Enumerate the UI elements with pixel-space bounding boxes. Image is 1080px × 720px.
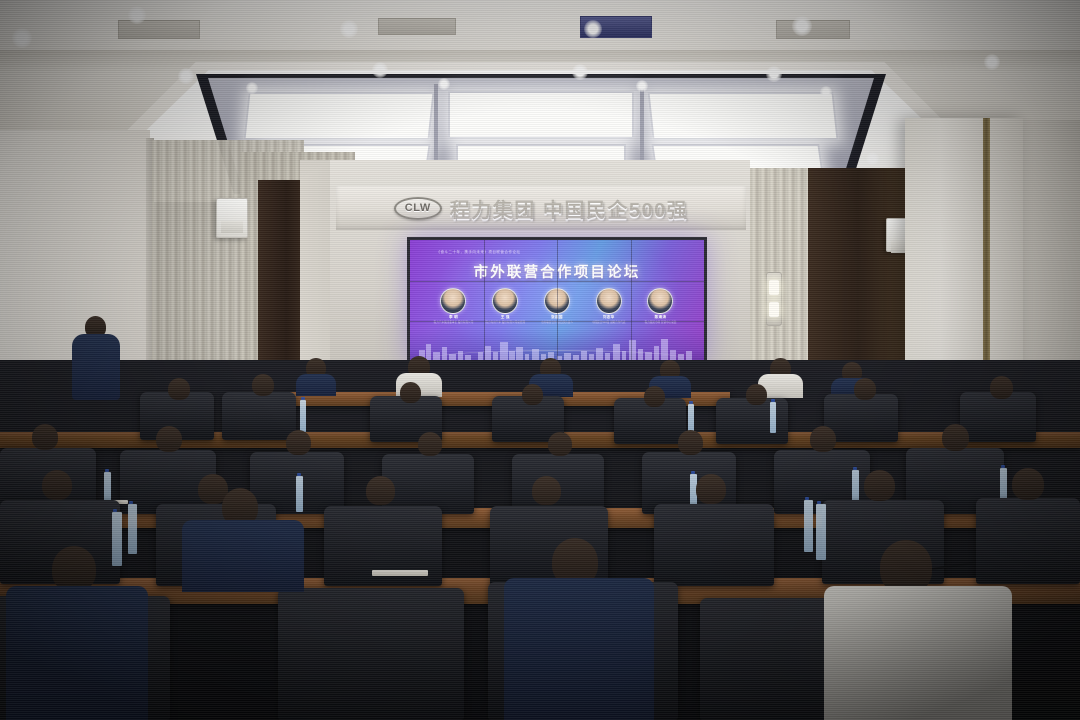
foreground-chair[interactable] [278,588,464,720]
water-bottle[interactable] [804,500,813,552]
led-panel-bezel [410,281,704,282]
speaker-name: 陈海涛 [655,315,667,320]
person-head [1012,468,1044,500]
ceiling-light-panel [243,92,434,140]
led-video-wall[interactable]: 《奋斗二十年，携手向未来》项目联营合作论坛 市外联营合作项目论坛 李 明 程力汽… [407,237,707,365]
person-head [286,430,311,455]
water-bottle[interactable] [770,402,776,433]
audience-chair[interactable] [222,392,296,440]
led-speaker-card: 李 明 程力汽车集团董事长 股份有限公司 [432,288,476,325]
person-head [854,378,876,400]
ceiling-downlight [438,78,450,90]
person-head [696,474,726,504]
led-panel-bezel [631,240,632,362]
led-subtitle: 《奋斗二十年，携手向未来》项目联营合作论坛 [436,250,520,255]
water-bottle[interactable] [128,504,137,554]
speaker-name: 王 强 [501,315,510,320]
speaker-portrait-avatar [647,288,673,314]
wall-sconce-icon [766,272,782,326]
ceiling-downlight [584,20,602,38]
notebook[interactable] [372,570,428,576]
person-head [252,374,274,396]
company-sign-text: 程力集团 中国民企500强 [450,194,688,223]
speaker-portrait-avatar [492,288,518,314]
ceiling-downlight [792,16,812,36]
led-panel-bezel [484,240,485,362]
audience-chair[interactable] [716,398,788,444]
person-head [156,426,182,452]
speaker-name: 李 明 [449,315,458,320]
person-head [532,476,561,505]
clw-logo-icon: CLW [394,197,442,220]
conference-hall-scene: CLW 程力集团 中国民企500强 《奋斗二十年，携手向未来》项目联营合作论坛 … [0,0,1080,720]
speaker-portrait-avatar [596,288,622,314]
person-body [504,578,654,720]
person-body [182,520,304,592]
ceiling-downlight [866,152,879,165]
person-head [810,426,836,452]
water-bottle[interactable] [816,504,826,560]
person-body [824,586,1012,720]
ceiling-downlight [246,82,258,94]
led-speaker-card: 王 强 程力专用汽车 股份有限公司总经理 [483,288,527,325]
speaker-portrait-avatar [440,288,466,314]
ceiling-vent [378,18,456,35]
audience-chair[interactable] [960,392,1036,442]
person-head [990,376,1013,399]
person-head [864,470,895,501]
person-head [548,432,572,456]
audience-chair[interactable] [382,454,474,514]
ceiling-downlight [128,6,146,24]
person-head [644,386,665,407]
person-head [418,432,442,456]
person-head [746,384,767,405]
ceiling-light-panel [448,91,634,139]
audience-chair[interactable] [654,504,774,586]
ceiling-light-panel [647,92,838,140]
standing-presenter-body [72,334,120,400]
person-head [522,384,543,405]
person-head [400,382,421,403]
audience-chair[interactable] [976,498,1080,584]
person-head [32,424,58,450]
ceiling-vent [118,20,200,39]
ceiling-downlight [766,66,782,82]
ceiling-downlight [636,80,648,92]
person-head [678,430,703,455]
person-body [296,374,336,396]
ceiling-downlight [178,68,194,84]
ceiling-downlight [984,54,1000,70]
ceiling-downlight [340,20,358,38]
person-head [942,424,969,451]
backwall-sign: CLW 程力集团 中国民企500强 [336,186,746,230]
speaker-name: 刘志华 [603,315,615,320]
ceiling-downlight [372,62,388,78]
water-bottle[interactable] [296,476,303,512]
person-body [6,586,148,720]
led-panel-bezel [410,321,704,322]
person-head [366,476,395,505]
ceiling-downlight [12,28,32,48]
led-speaker-card: 刘志华 中国民企500强 战略合作代表 [587,288,631,325]
led-panel-bezel [557,240,558,362]
ceiling-downlight [572,64,588,80]
water-bottle[interactable] [300,400,306,432]
ceiling-downlight [820,86,832,98]
person-head [168,378,190,400]
led-speaker-card: 陈海涛 程力集团市场 营销中心总监 [639,288,683,325]
led-wall-content: 《奋斗二十年，携手向未来》项目联营合作论坛 市外联营合作项目论坛 李 明 程力汽… [410,240,704,362]
ceiling-vent [776,20,850,39]
person-head [42,470,72,500]
wall-speaker-icon [216,198,248,238]
water-bottle[interactable] [112,512,122,566]
